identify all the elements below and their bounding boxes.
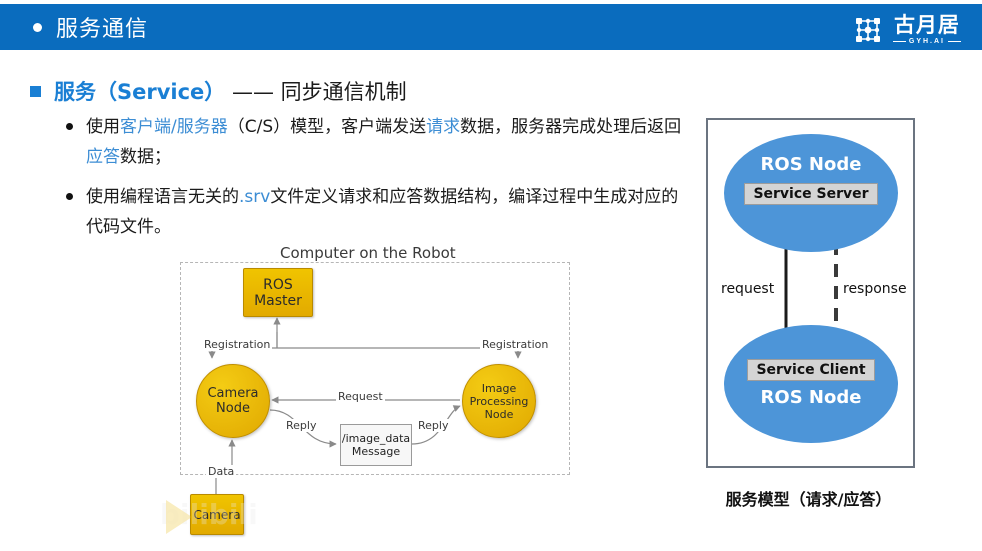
request-arrow-label: request (720, 281, 775, 297)
logo-name-cn: 古月居 (894, 15, 960, 36)
image-data-message-box: /image_data Message (340, 424, 412, 466)
registration-label-left: Registration (202, 338, 272, 351)
service-client-node: Service Client ROS Node (724, 325, 898, 443)
bullet-text-2: 使用编程语言无关的.srv文件定义请求和应答数据结构，编译过程中生成对应的代码文… (86, 182, 686, 242)
logo-rule-left (893, 41, 906, 42)
list-item: 使用编程语言无关的.srv文件定义请求和应答数据结构，编译过程中生成对应的代码文… (66, 182, 686, 242)
section-title-blue: 服务（Service） (54, 80, 225, 104)
server-node-label: ROS Node (761, 154, 862, 175)
image-node-line2: Processing (470, 395, 529, 408)
section-title-dark: —— 同步通信机制 (225, 80, 406, 104)
dot-bullet-icon (66, 193, 73, 200)
message-topic-name: /image_data (342, 432, 410, 445)
camera-node-line2: Node (207, 401, 258, 416)
ros-topic-diagram: Computer on the Robot (150, 240, 590, 540)
image-processing-node: Image Processing Node (462, 364, 536, 438)
registration-label-right: Registration (480, 338, 550, 351)
ros-master-box: ROS Master (243, 268, 313, 317)
response-arrow-label: response (842, 281, 908, 297)
camera-device-label: Camera (193, 507, 240, 523)
page-title: 服务通信 (56, 11, 148, 43)
service-client-box: Service Client (747, 359, 874, 381)
logo-rule-right (948, 41, 961, 42)
logo-name-en: GYH.AI (909, 38, 945, 45)
request-label: Request (336, 390, 385, 403)
service-model-diagram: ROS Node Service Server Service Client R… (706, 118, 915, 468)
bullet-text-1: 使用客户端/服务器（C/S）模型，客户端发送请求数据，服务器完成处理后返回应答数… (86, 112, 686, 172)
client-node-label: ROS Node (761, 387, 862, 408)
ros-master-line2: Master (254, 293, 302, 309)
list-item: 使用客户端/服务器（C/S）模型，客户端发送请求数据，服务器完成处理后返回应答数… (66, 112, 686, 172)
camera-node-line1: Camera (207, 386, 258, 401)
camera-node: Camera Node (196, 364, 270, 438)
dot-bullet-icon (66, 123, 73, 130)
network-nodes-icon (853, 15, 883, 45)
service-model-caption: 服务模型（请求/应答） (706, 486, 911, 510)
image-node-line1: Image (470, 382, 529, 395)
header-divider (0, 50, 982, 53)
dot-bullet-icon (33, 23, 42, 32)
service-server-node: ROS Node Service Server (724, 134, 898, 252)
message-kind: Message (342, 445, 410, 458)
watermark-text (44, 504, 52, 528)
image-node-line3: Node (470, 408, 529, 421)
ros-master-line1: ROS (254, 277, 302, 293)
brand-logo: 古月居 GYH.AI (853, 13, 964, 47)
reply-label-right: Reply (416, 419, 450, 432)
slide-header: 服务通信 古月居 (0, 4, 982, 50)
slide-canvas: 服务通信 古月居 (0, 0, 982, 551)
section-heading: 服务（Service） —— 同步通信机制 (30, 76, 407, 106)
square-bullet-icon (30, 86, 41, 97)
reply-label-left: Reply (284, 419, 318, 432)
camera-device-box: Camera (190, 494, 244, 535)
bullet-list: 使用客户端/服务器（C/S）模型，客户端发送请求数据，服务器完成处理后返回应答数… (66, 112, 686, 252)
data-label: Data (206, 465, 236, 478)
service-server-box: Service Server (744, 183, 877, 205)
